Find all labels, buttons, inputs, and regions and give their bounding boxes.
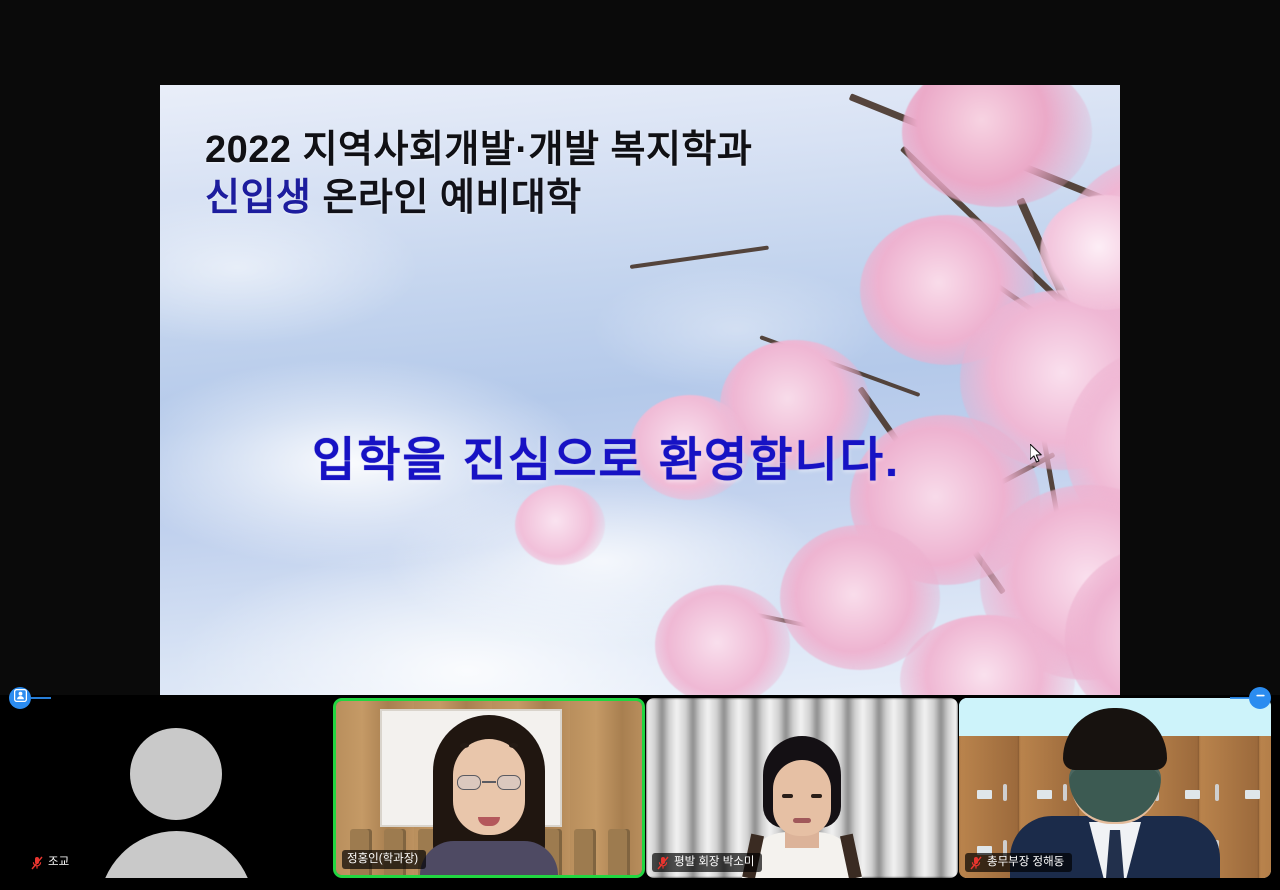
mic-muted-icon bbox=[970, 856, 982, 870]
participant-tile-0[interactable]: 조교 bbox=[20, 698, 332, 878]
slide-headline-block: 2022 지역사회개발·개발 복지학과 신입생 온라인 예비대학 bbox=[205, 127, 752, 223]
slide-headline-line-2-rest: 온라인 예비대학 bbox=[311, 177, 581, 219]
participant-name-1: 정홍인(학과장) bbox=[347, 854, 418, 866]
person-eye-left bbox=[460, 743, 469, 748]
slide-headline-line-2: 신입생 온라인 예비대학 bbox=[205, 175, 752, 223]
minimize-icon bbox=[1254, 689, 1267, 707]
participant-name-3: 총무부장 정해동 bbox=[987, 857, 1064, 869]
person-eye-right bbox=[509, 743, 518, 748]
slide-headline-line-1: 2022 지역사회개발·개발 복지학과 bbox=[205, 127, 752, 175]
shared-screen-stage[interactable]: 2022 지역사회개발·개발 복지학과 신입생 온라인 예비대학 입학을 진심으… bbox=[0, 0, 1280, 695]
participant-name-badge-3: 총무부장 정해동 bbox=[965, 853, 1072, 872]
mic-muted-icon bbox=[31, 856, 43, 870]
participant-name-2: 평발 회장 박소미 bbox=[674, 857, 754, 869]
person-eye-right bbox=[811, 794, 822, 798]
participant-id-icon bbox=[14, 689, 27, 707]
participant-name-badge-2: 평발 회장 박소미 bbox=[652, 853, 762, 872]
participant-name-badge-1: 정홍인(학과장) bbox=[342, 850, 426, 869]
avatar-head-shape bbox=[130, 728, 222, 820]
participant-id-button[interactable] bbox=[9, 687, 31, 709]
eyeglasses bbox=[457, 775, 521, 790]
person-mouth bbox=[793, 818, 811, 823]
filmstrip-right-connector bbox=[1230, 697, 1249, 699]
participant-tile-2[interactable]: 평발 회장 박소미 bbox=[646, 698, 958, 878]
mic-muted-icon bbox=[657, 856, 669, 870]
participant-video-2 bbox=[646, 698, 958, 878]
participant-video-1 bbox=[336, 701, 642, 875]
participant-filmstrip: 조교 bbox=[0, 695, 1280, 890]
participant-name-badge-0: 조교 bbox=[26, 853, 77, 872]
participant-tile-3[interactable]: 총무부장 정해동 bbox=[959, 698, 1271, 878]
slide-headline-highlight: 신입생 bbox=[205, 177, 311, 219]
slide-welcome-message: 입학을 진심으로 환영합니다. bbox=[312, 421, 900, 490]
collapse-filmstrip-button[interactable] bbox=[1249, 687, 1271, 709]
filmstrip-left-connector bbox=[31, 697, 51, 699]
participant-tile-1[interactable]: 정홍인(학과장) bbox=[333, 698, 645, 878]
person-eye-left bbox=[782, 794, 793, 798]
participant-name-0: 조교 bbox=[48, 857, 69, 869]
participant-avatar-placeholder bbox=[20, 698, 332, 878]
zoom-meeting-window: 2022 지역사회개발·개발 복지학과 신입생 온라인 예비대학 입학을 진심으… bbox=[0, 0, 1280, 890]
person-face bbox=[773, 760, 831, 836]
avatar-body-shape bbox=[99, 831, 254, 878]
participant-video-3 bbox=[959, 698, 1271, 878]
presentation-slide[interactable]: 2022 지역사회개발·개발 복지학과 신입생 온라인 예비대학 입학을 진심으… bbox=[160, 85, 1120, 695]
person-torso bbox=[420, 841, 558, 875]
